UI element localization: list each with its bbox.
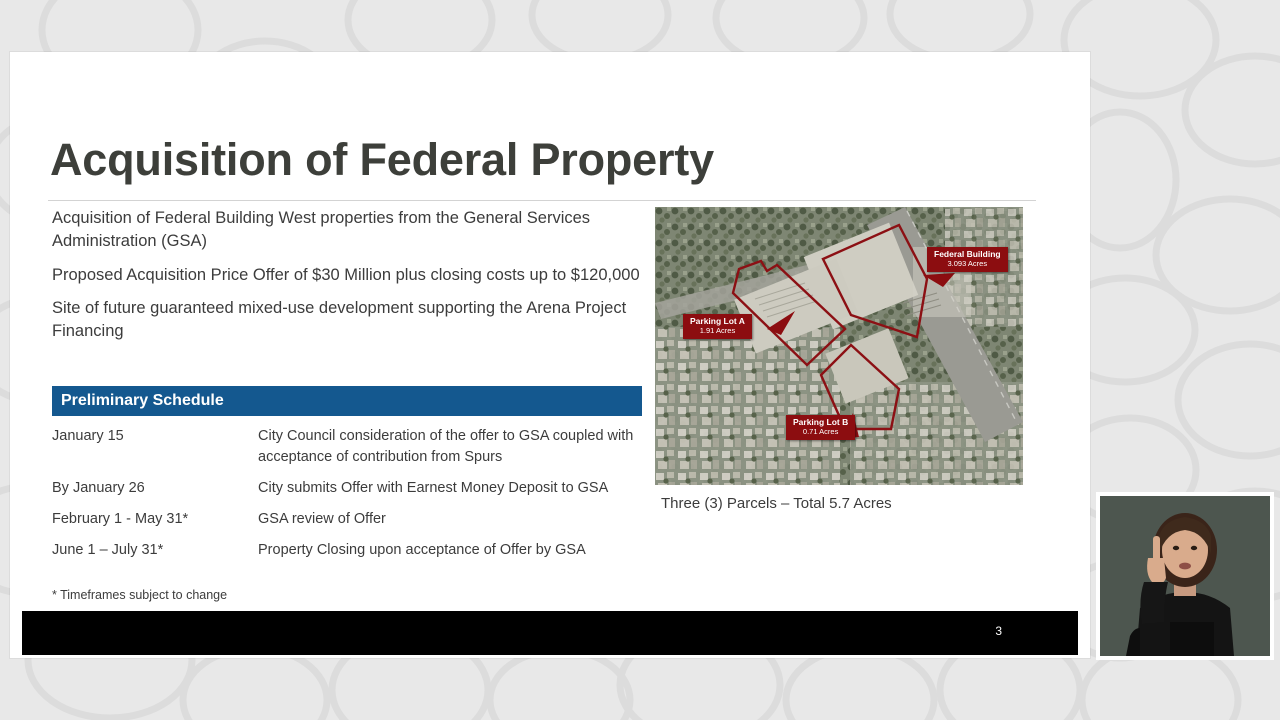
bullet-item: Proposed Acquisition Price Offer of $30 … [52,264,642,287]
schedule-banner: Preliminary Schedule [52,386,642,416]
aerial-map-image: Federal Building 3.093 Acres Parking Lot… [655,207,1023,485]
page-title: Acquisition of Federal Property [50,134,714,186]
schedule-description: City Council consideration of the offer … [258,426,642,468]
aerial-map-figure: Federal Building 3.093 Acres Parking Lot… [655,207,1023,512]
interpreter-video [1100,496,1270,656]
title-divider [48,200,1036,201]
table-row: By January 26 City submits Offer with Ea… [52,478,642,499]
bullet-list: Acquisition of Federal Building West pro… [52,207,642,354]
presentation-slide: Acquisition of Federal Property Acquisit… [10,52,1090,658]
table-row: January 15 City Council consideration of… [52,426,642,468]
preliminary-schedule: Preliminary Schedule January 15 City Cou… [52,386,642,571]
map-caption: Three (3) Parcels – Total 5.7 Acres [655,495,1023,512]
schedule-footnote: * Timeframes subject to change [52,588,227,602]
schedule-date: January 15 [52,426,258,468]
schedule-description: Property Closing upon acceptance of Offe… [258,540,642,561]
schedule-date: June 1 – July 31* [52,540,258,561]
bullet-item: Site of future guaranteed mixed-use deve… [52,297,642,343]
screen: Acquisition of Federal Property Acquisit… [0,0,1280,720]
map-label-acres: 0.71 Acres [793,428,848,436]
slide-footer-bar: 3 [22,611,1078,655]
map-label-acres: 3.093 Acres [934,260,1001,268]
schedule-description: GSA review of Offer [258,509,642,530]
map-label-federal-building: Federal Building 3.093 Acres [927,247,1008,272]
page-number: 3 [995,624,1002,638]
schedule-date: February 1 - May 31* [52,509,258,530]
map-label-acres: 1.91 Acres [690,327,745,335]
table-row: June 1 – July 31* Property Closing upon … [52,540,642,561]
schedule-date: By January 26 [52,478,258,499]
map-label-parking-lot-b: Parking Lot B 0.71 Acres [786,415,855,440]
schedule-description: City submits Offer with Earnest Money De… [258,478,642,499]
table-row: February 1 - May 31* GSA review of Offer [52,509,642,530]
schedule-rows: January 15 City Council consideration of… [52,416,642,561]
map-label-parking-lot-a: Parking Lot A 1.91 Acres [683,314,752,339]
bullet-item: Acquisition of Federal Building West pro… [52,207,642,253]
sign-language-interpreter-inset [1096,492,1274,660]
